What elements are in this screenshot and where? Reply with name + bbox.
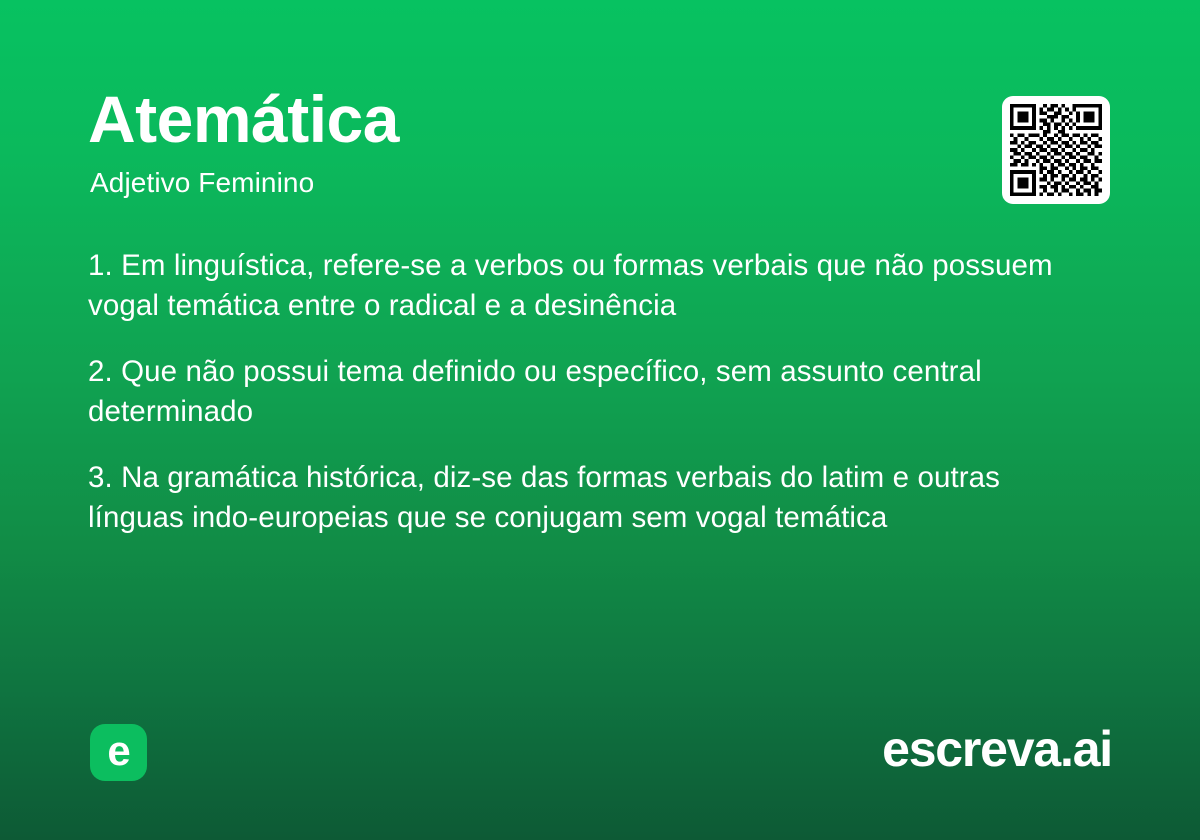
dictionary-card: Atemática Adjetivo Feminino 1. Em linguí… bbox=[0, 0, 1200, 840]
page-title: Atemática bbox=[88, 86, 399, 153]
definition-item: 1. Em linguística, refere-se a verbos ou… bbox=[88, 246, 1088, 325]
definition-list: 1. Em linguística, refere-se a verbos ou… bbox=[88, 246, 1088, 537]
brand-wordmark: escreva.ai bbox=[882, 722, 1112, 777]
qr-code-card[interactable] bbox=[1002, 96, 1110, 204]
word-class-label: Adjetivo Feminino bbox=[90, 166, 314, 200]
definition-item: 2. Que não possui tema definido ou espec… bbox=[88, 352, 1088, 431]
definition-item: 3. Na gramática histórica, diz-se das fo… bbox=[88, 458, 1088, 537]
brand-logo-letter: e bbox=[107, 730, 129, 772]
brand-logo-badge: e bbox=[90, 724, 147, 781]
qr-code-icon bbox=[1010, 104, 1102, 196]
